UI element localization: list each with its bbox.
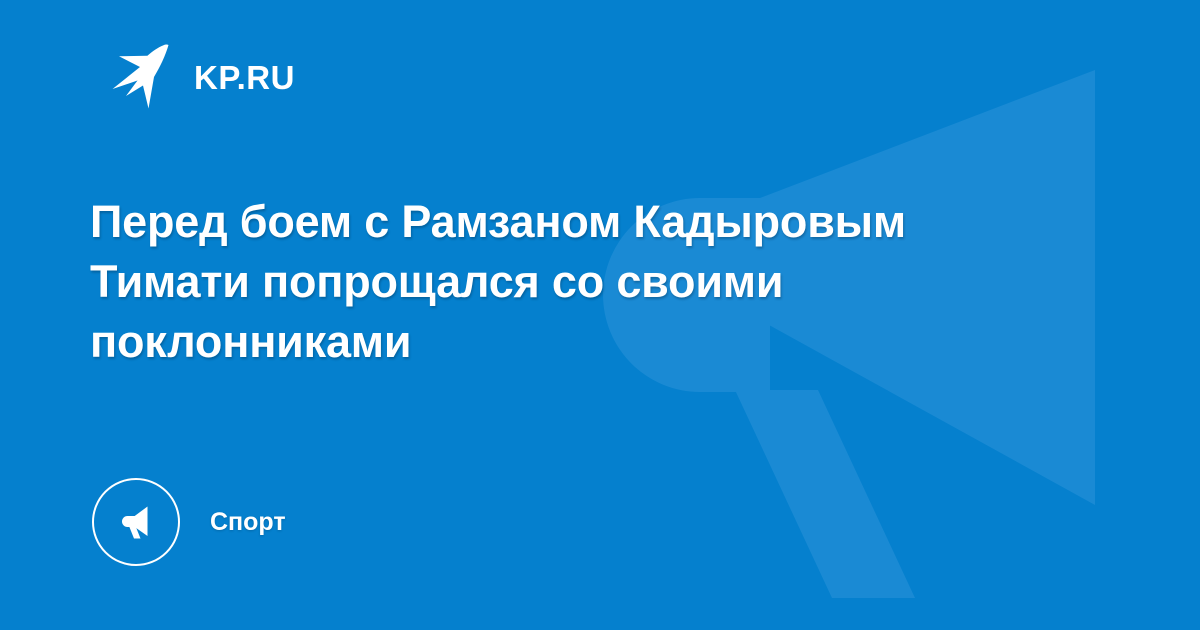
brand-name: KP.RU bbox=[194, 61, 295, 94]
category-label: Спорт bbox=[210, 510, 286, 535]
swallow-bird-icon bbox=[96, 42, 170, 112]
social-share-card: KP.RU Перед боем с Рамзаном Кадыровым Ти… bbox=[0, 0, 1200, 630]
page-title: Перед боем с Рамзаном Кадыровым Тимати п… bbox=[90, 192, 1040, 372]
category-badge[interactable]: Спорт bbox=[92, 478, 286, 566]
megaphone-icon bbox=[92, 478, 180, 566]
brand-header: KP.RU bbox=[96, 42, 295, 112]
